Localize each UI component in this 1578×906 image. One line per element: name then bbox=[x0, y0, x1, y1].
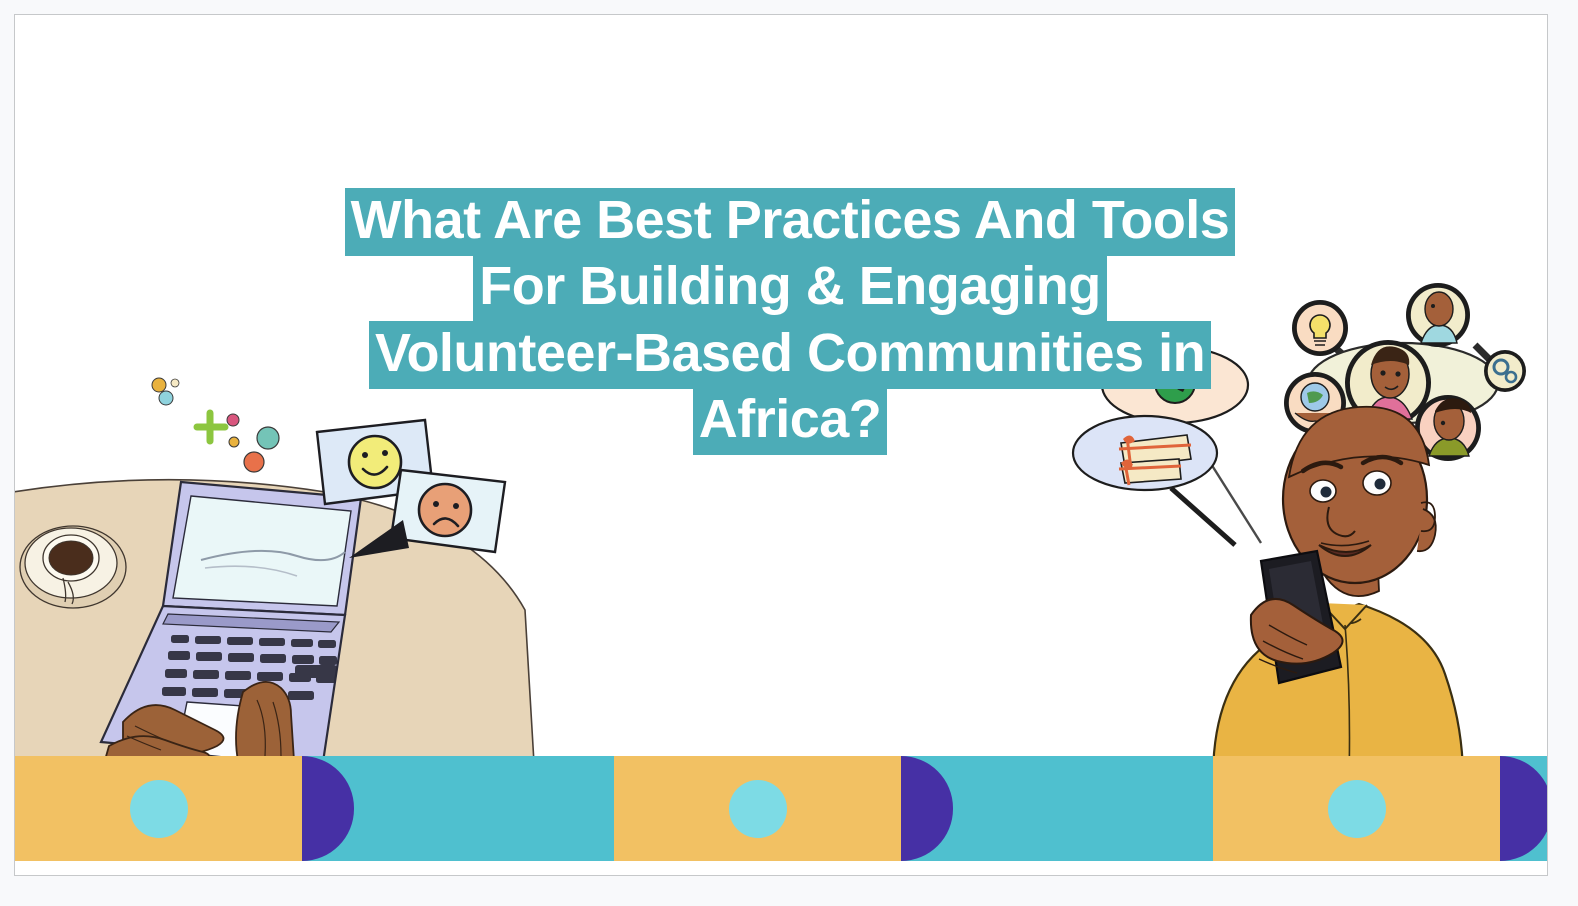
cyan-circle-shape bbox=[130, 780, 188, 838]
footer-segment-orange bbox=[614, 756, 901, 861]
man-avatar-node bbox=[1406, 283, 1470, 347]
cyan-circle-shape bbox=[1328, 780, 1386, 838]
purple-half-moon-shape bbox=[901, 756, 953, 861]
coffee-cup-icon bbox=[20, 526, 126, 608]
gears-node bbox=[1484, 350, 1526, 392]
title-line-4: Africa? bbox=[285, 386, 1295, 452]
purple-half-moon-shape bbox=[1500, 756, 1547, 861]
title-line-1: What Are Best Practices And Tools bbox=[285, 187, 1295, 253]
footer-segment-orange bbox=[15, 756, 302, 861]
slide-canvas: What Are Best Practices And Tools For Bu… bbox=[14, 14, 1548, 876]
plus-sparkle-icon bbox=[197, 413, 225, 441]
page-title: What Are Best Practices And Tools For Bu… bbox=[285, 187, 1295, 453]
title-line-3: Volunteer-Based Communities in bbox=[285, 320, 1295, 386]
cyan-circle-shape bbox=[729, 780, 787, 838]
decorative-footer-bar bbox=[15, 756, 1547, 861]
footer-segment-orange bbox=[1213, 756, 1500, 861]
man-with-smartphone bbox=[1213, 407, 1463, 778]
purple-half-moon-shape bbox=[302, 756, 354, 861]
footer-segment-teal bbox=[1500, 756, 1547, 861]
footer-segment-teal bbox=[302, 756, 614, 861]
confetti-dots bbox=[152, 378, 279, 472]
idea-bulb-node bbox=[1292, 300, 1348, 356]
footer-segment-teal bbox=[901, 756, 1213, 861]
title-line-2: For Building & Engaging bbox=[285, 253, 1295, 319]
